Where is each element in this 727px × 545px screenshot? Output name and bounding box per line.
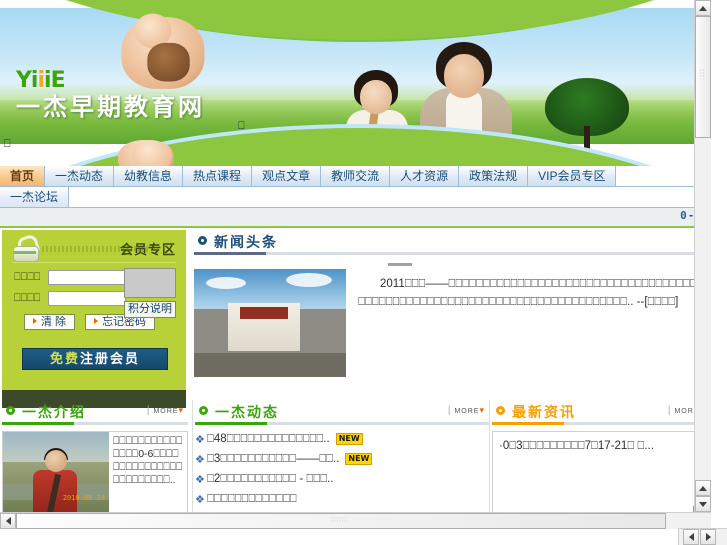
- nav-tab-label: 政策法规: [469, 169, 517, 183]
- scroll-down-button-inner[interactable]: [695, 480, 711, 496]
- score-info-button[interactable]: 积分说明: [124, 301, 176, 318]
- nav-tab-label: 一杰论坛: [10, 190, 58, 204]
- baby-with-teddy-bottom: [118, 140, 174, 166]
- nav-tab-0[interactable]: 一杰论坛: [0, 187, 69, 208]
- list-item-label: ⎕⎕⎕⎕⎕⎕⎕⎕⎕⎕⎕⎕⎕: [207, 493, 297, 506]
- dynamics-more-label: more: [454, 405, 479, 416]
- circle-bullet-icon: [198, 236, 207, 245]
- nav-tab-label: 观点文章: [262, 169, 310, 183]
- list-item-label: ⎕48⎕⎕⎕⎕⎕⎕⎕⎕⎕⎕⎕⎕⎕⎕..: [207, 433, 330, 446]
- circle-bullet-icon: [199, 406, 208, 415]
- dynamics-rule: [195, 422, 489, 425]
- scroll-up-button[interactable]: [695, 0, 711, 16]
- nav-tab-0[interactable]: 首页: [0, 166, 45, 187]
- news-headline-header: 新闻头条: [194, 230, 707, 252]
- register-free-text: 免费: [50, 351, 80, 366]
- latest-rule: [492, 422, 709, 425]
- banner-missing-glyph-1: ⎕: [238, 120, 245, 133]
- clear-button-label: 清 除: [41, 316, 66, 328]
- dynamics-more-link[interactable]: |more▾: [448, 405, 485, 416]
- intro-more-link[interactable]: |more▾: [147, 405, 184, 416]
- photo-timestamp: 2010-08-28: [63, 494, 105, 502]
- bottom-panels: 一杰介绍 |more▾ 2010-08-28 ⎕⎕⎕⎕⎕⎕⎕⎕⎕⎕⎕⎕⎕⎕⎕0-…: [0, 400, 711, 529]
- hscroll-left-step-button[interactable]: [683, 529, 699, 545]
- diamond-bullet-icon: ❖: [195, 433, 207, 446]
- horizontal-scrollbar[interactable]: ∷∷∷: [0, 512, 711, 529]
- username-label: ⎕⎕⎕⎕: [14, 271, 48, 284]
- free-register-button[interactable]: 免费注册会员: [22, 348, 168, 370]
- clear-button[interactable]: 清 除: [24, 314, 75, 330]
- news-headline-rule: [194, 252, 707, 255]
- potala-palace-photo[interactable]: [194, 269, 346, 377]
- dynamics-header: 一杰动态 |more▾: [195, 400, 489, 422]
- member-header-rule: [12, 262, 176, 263]
- banner-missing-glyph-2: ⎕: [4, 138, 11, 151]
- nav-tab-label: 一杰动态: [55, 169, 103, 183]
- horizontal-scrollbar-right-end[interactable]: [678, 528, 727, 545]
- intro-header: 一杰介绍 |more▾: [2, 400, 188, 422]
- nav-tab-5[interactable]: 教师交流: [321, 166, 390, 187]
- diamond-bullet-icon: ❖: [195, 473, 207, 486]
- founder-photo[interactable]: 2010-08-28: [3, 432, 109, 516]
- username-input[interactable]: [48, 270, 126, 285]
- list-item[interactable]: ❖⎕48⎕⎕⎕⎕⎕⎕⎕⎕⎕⎕⎕⎕⎕⎕..NEW: [195, 429, 489, 449]
- news-headline-text-block: 2011⎕⎕⎕——⎕⎕⎕⎕⎕⎕⎕⎕⎕⎕⎕⎕⎕⎕⎕⎕⎕⎕⎕⎕⎕⎕⎕⎕⎕⎕⎕⎕⎕⎕⎕…: [346, 269, 707, 377]
- nav-tab-label: VIP会员专区: [538, 169, 605, 183]
- diamond-bullet-icon: ❖: [195, 453, 207, 466]
- site-logo[interactable]: YiiiE 一杰早期教育网: [16, 70, 205, 120]
- intro-rule: [2, 422, 188, 425]
- intro-card: 2010-08-28 ⎕⎕⎕⎕⎕⎕⎕⎕⎕⎕⎕⎕⎕⎕⎕0-6⎕⎕⎕⎕⎕⎕⎕⎕⎕⎕⎕…: [2, 431, 188, 517]
- list-item-label: ⎕2⎕⎕⎕⎕⎕⎕⎕⎕⎕⎕⎕ - ⎕⎕⎕..: [207, 473, 334, 486]
- site-banner: YiiiE 一杰早期教育网 ⎕ ⎕: [0, 0, 711, 166]
- scroll-down-button[interactable]: [695, 496, 711, 512]
- panel-latest: 最新资讯 |more▾ ·0⎕3⎕⎕⎕⎕⎕⎕⎕⎕⎕7⎕17-21⎕ ⎕...: [492, 400, 709, 529]
- scroll-left-button[interactable]: [0, 513, 16, 529]
- nav-tab-label: 幼教信息: [124, 169, 172, 183]
- headline-accent-bar: [388, 263, 412, 266]
- logo-wordmark: YiiiE: [16, 70, 205, 92]
- main-navigation: 首页一杰动态幼教信息热点课程观点文章教师交流人才资源政策法规VIP会员专区 一杰…: [0, 166, 711, 208]
- password-label: ⎕⎕⎕⎕: [14, 292, 48, 305]
- nav-tab-4[interactable]: 观点文章: [252, 166, 321, 187]
- logo-site-title: 一杰早期教育网: [16, 96, 205, 120]
- list-item-label: ⎕3⎕⎕⎕⎕⎕⎕⎕⎕⎕⎕⎕——⎕⎕..: [207, 453, 339, 466]
- register-rest-text: 注册会员: [80, 351, 140, 366]
- intro-text[interactable]: ⎕⎕⎕⎕⎕⎕⎕⎕⎕⎕⎕⎕⎕⎕⎕0-6⎕⎕⎕⎕⎕⎕⎕⎕⎕⎕⎕⎕⎕⎕⎕⎕⎕⎕⎕⎕⎕⎕…: [109, 432, 187, 516]
- nav-tab-label: 首页: [10, 169, 34, 183]
- nav-tab-8[interactable]: VIP会员专区: [528, 166, 616, 187]
- latest-item-0[interactable]: ·0⎕3⎕⎕⎕⎕⎕⎕⎕⎕⎕7⎕17-21⎕ ⎕...: [499, 440, 702, 453]
- list-item[interactable]: ❖⎕⎕⎕⎕⎕⎕⎕⎕⎕⎕⎕⎕⎕: [195, 489, 489, 509]
- nav-tab-6[interactable]: 人才资源: [390, 166, 459, 187]
- page-viewport: YiiiE 一杰早期教育网 ⎕ ⎕ 首页一杰动态幼教信息热点课程观点文章教师交流…: [0, 0, 711, 529]
- intro-body: 2010-08-28 ⎕⎕⎕⎕⎕⎕⎕⎕⎕⎕⎕⎕⎕⎕⎕0-6⎕⎕⎕⎕⎕⎕⎕⎕⎕⎕⎕…: [2, 431, 188, 517]
- diamond-bullet-icon: ❖: [195, 493, 207, 506]
- nav-row-primary: 首页一杰动态幼教信息热点课程观点文章教师交流人才资源政策法规VIP会员专区: [0, 166, 711, 187]
- horizontal-scroll-thumb[interactable]: ∷∷∷: [16, 513, 666, 529]
- nav-row-secondary: 一杰论坛: [0, 187, 711, 208]
- latest-header: 最新资讯 |more▾: [492, 400, 709, 422]
- news-headline-section: 新闻头条 2011⎕⎕⎕——⎕⎕⎕⎕⎕⎕⎕⎕⎕⎕⎕⎕⎕⎕⎕⎕⎕⎕⎕⎕⎕⎕⎕⎕⎕⎕…: [194, 230, 707, 398]
- panel-dynamics: 一杰动态 |more▾ ❖⎕48⎕⎕⎕⎕⎕⎕⎕⎕⎕⎕⎕⎕⎕⎕..NEW❖⎕3⎕⎕…: [192, 400, 490, 529]
- news-headline-body: 2011⎕⎕⎕——⎕⎕⎕⎕⎕⎕⎕⎕⎕⎕⎕⎕⎕⎕⎕⎕⎕⎕⎕⎕⎕⎕⎕⎕⎕⎕⎕⎕⎕⎕⎕…: [194, 269, 707, 377]
- nav-filler: [69, 187, 711, 208]
- nav-tab-1[interactable]: 一杰动态: [45, 166, 114, 187]
- nav-tab-2[interactable]: 幼教信息: [114, 166, 183, 187]
- password-input[interactable]: [48, 291, 126, 306]
- list-item[interactable]: ❖⎕3⎕⎕⎕⎕⎕⎕⎕⎕⎕⎕⎕——⎕⎕..NEW: [195, 449, 489, 469]
- vertical-scrollbar[interactable]: ∷∷∷: [694, 0, 711, 529]
- member-panel-title: 会员专区: [120, 239, 176, 258]
- list-item[interactable]: ❖⎕2⎕⎕⎕⎕⎕⎕⎕⎕⎕⎕⎕ - ⎕⎕⎕..: [195, 469, 489, 489]
- circle-bullet-icon: [496, 406, 505, 415]
- vertical-scroll-thumb[interactable]: ∷∷∷: [695, 16, 711, 138]
- panel-intro: 一杰介绍 |more▾ 2010-08-28 ⎕⎕⎕⎕⎕⎕⎕⎕⎕⎕⎕⎕⎕⎕⎕0-…: [2, 400, 188, 529]
- nav-tab-label: 教师交流: [331, 169, 379, 183]
- nav-tab-7[interactable]: 政策法规: [459, 166, 528, 187]
- dynamics-title: 一杰动态: [215, 402, 279, 422]
- intro-title: 一杰介绍: [22, 402, 86, 422]
- new-badge: NEW: [336, 433, 363, 445]
- member-panel-header: 会员专区: [2, 230, 186, 264]
- nav-tab-label: 人才资源: [400, 169, 448, 183]
- nav-tab-3[interactable]: 热点课程: [183, 166, 252, 187]
- news-headline-paragraph[interactable]: 2011⎕⎕⎕——⎕⎕⎕⎕⎕⎕⎕⎕⎕⎕⎕⎕⎕⎕⎕⎕⎕⎕⎕⎕⎕⎕⎕⎕⎕⎕⎕⎕⎕⎕⎕…: [358, 275, 707, 311]
- new-badge: NEW: [345, 453, 372, 465]
- circle-bullet-icon: [6, 406, 15, 415]
- nav-under-strip: 0-6: [0, 208, 711, 228]
- news-headline-title: 新闻头条: [214, 232, 278, 252]
- member-login-panel: 会员专区 ⎕⎕⎕⎕ ⎕⎕⎕⎕ 积分说明 清 除 忘记密码: [2, 230, 186, 390]
- intro-more-label: more: [153, 405, 178, 416]
- captcha-image[interactable]: [124, 268, 176, 298]
- latest-title: 最新资讯: [512, 402, 576, 422]
- hscroll-right-step-button[interactable]: [700, 529, 716, 545]
- nav-tab-label: 热点课程: [193, 169, 241, 183]
- tree-graphic: [545, 78, 629, 148]
- lock-icon: [12, 236, 38, 260]
